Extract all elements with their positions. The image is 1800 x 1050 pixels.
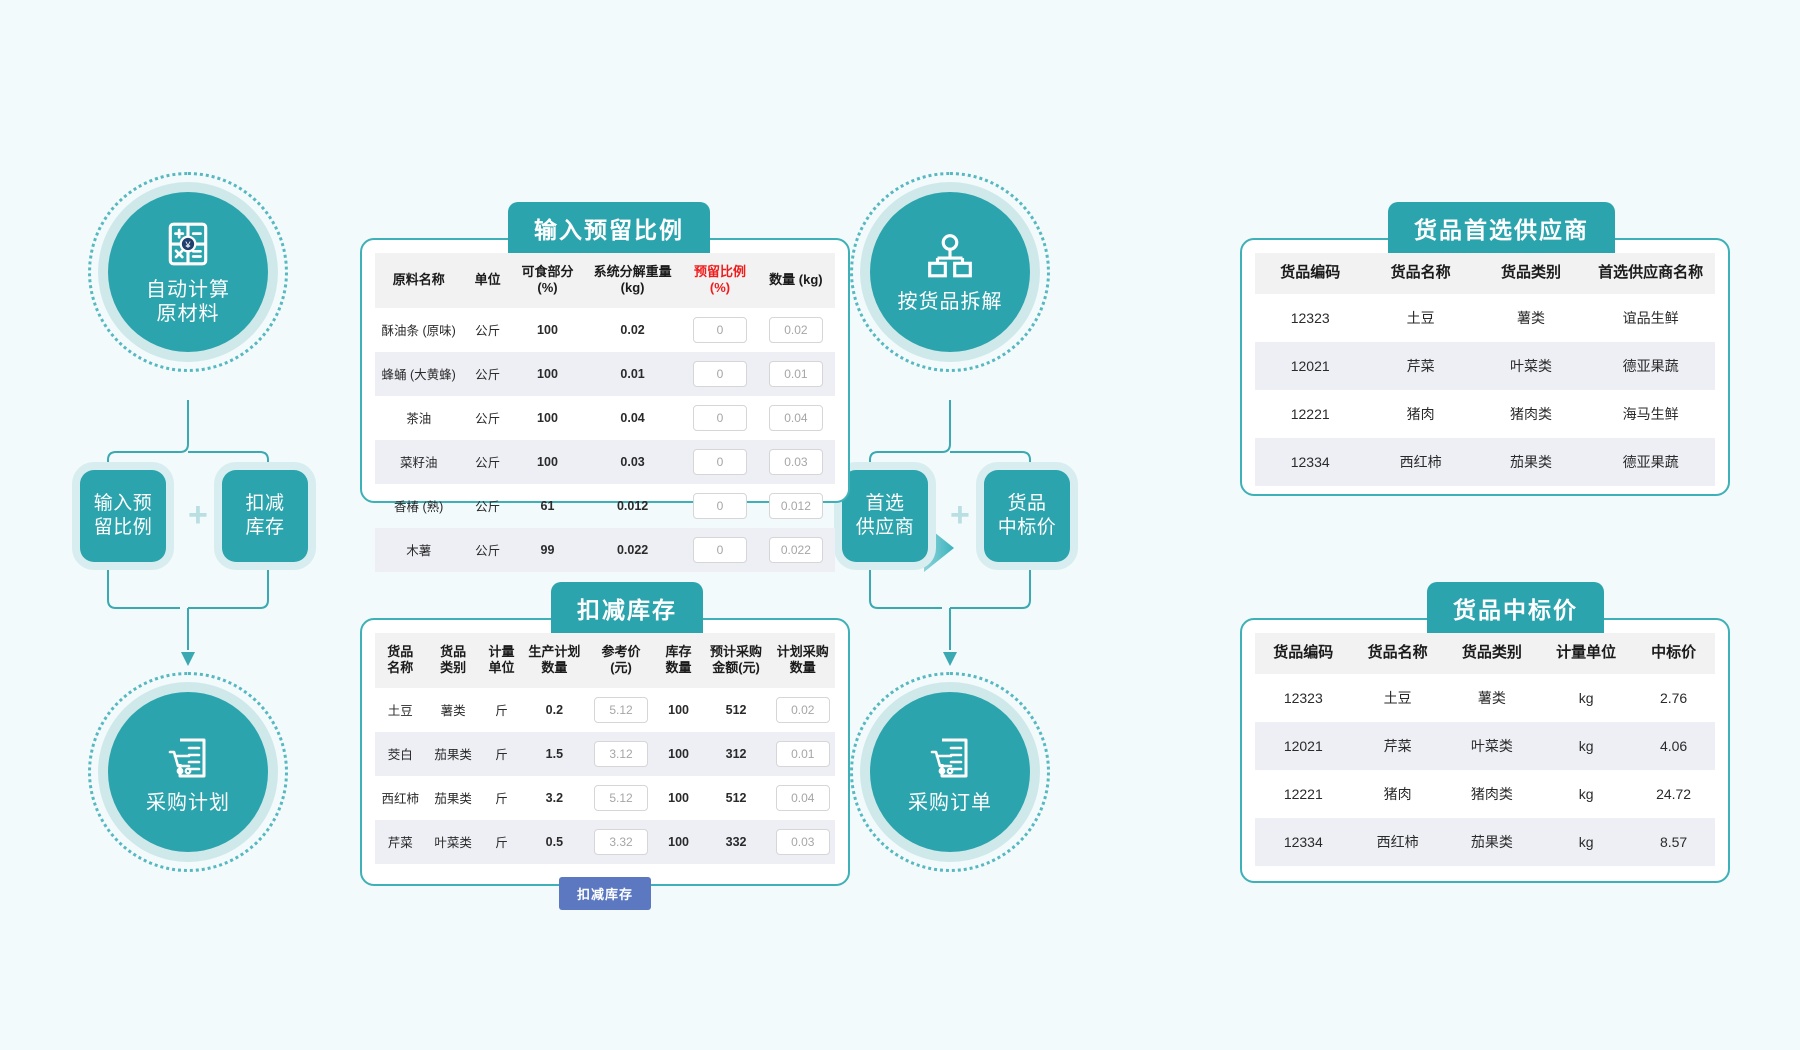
panel-reserve-ratio: 原料名称 单位 可食部分 (%) 系统分解重量 (kg) 预留比例 (%) 数量… [360,238,850,503]
cell-goods-category: 薯类 [1476,294,1586,342]
cell-goods-code: 12334 [1255,818,1352,866]
input-quantity[interactable]: 0.03 [769,449,823,475]
cell-unit: 公斤 [462,484,513,528]
table-row: 12334 西红柿 茄果类 kg 8.57 [1255,818,1715,866]
cell-plan-qty: 0.5 [522,820,586,864]
box-label-line2: 库存 [245,517,284,538]
col-header-material-name: 原料名称 [375,253,462,308]
cell-goods-category: 薯类 [1444,674,1541,722]
flow-box-deduct-stock[interactable]: 扣减 库存 [222,470,308,562]
cell-unit: 公斤 [462,308,513,352]
cell-goods-code: 12221 [1255,390,1365,438]
table-row: 西红柿 茄果类 斤 3.2 5.12 100 512 0.04 [375,776,835,820]
cell-weight: 0.012 [582,484,683,528]
table-row: 12323 土豆 薯类 kg 2.76 [1255,674,1715,722]
circle-core: 采购计划 [108,692,268,852]
col-header-ref-price: 参考价 (元) [587,633,656,688]
cell-material-name: 菜籽油 [375,440,462,484]
input-reserve-ratio[interactable]: 0 [693,493,747,519]
col-header-edible-part: 可食部分 (%) [513,253,582,308]
table-header-row: 货品 名称 货品 类别 计量 单位 生产计划 数量 参考价 (元) 库存 数量 … [375,633,835,688]
flow-box-input-reserve-ratio[interactable]: 输入预 留比例 [80,470,166,562]
cell-goods-category: 叶菜类 [1476,342,1586,390]
cell-unit: 公斤 [462,440,513,484]
node-auto-calc-materials[interactable]: ¥ 自动计算 原材料 [88,172,288,372]
table-row: 12334 西红柿 茄果类 德亚果蔬 [1255,438,1715,486]
cell-est-amount: 332 [702,820,771,864]
cell-goods-code: 12334 [1255,438,1365,486]
cell-edible: 100 [513,308,582,352]
cell-goods-category: 猪肉类 [1476,390,1586,438]
cell-unit: kg [1540,722,1632,770]
box-label-line1: 首选 [865,493,904,514]
table-row: 木薯 公斤 99 0.022 0 0.022 [375,528,835,572]
cell-winning-price: 4.06 [1632,722,1715,770]
cell-unit: kg [1540,818,1632,866]
flow-box-preferred-supplier[interactable]: 首选 供应商 [842,470,928,562]
cell-goods-category: 茄果类 [1476,438,1586,486]
cell-material-name: 蜂蛹 (大黄蜂) [375,352,462,396]
circle-core: ¥ 自动计算 原材料 [108,192,268,352]
cell-goods-code: 12221 [1255,770,1352,818]
table-row: 12021 芹菜 叶菜类 德亚果蔬 [1255,342,1715,390]
input-reserve-ratio[interactable]: 0 [693,361,747,387]
cell-supplier-name: 德亚果蔬 [1586,438,1715,486]
cell-plan-qty: 0.2 [522,688,586,732]
cell-material-name: 酥油条 (原味) [375,308,462,352]
svg-text:¥: ¥ [184,239,191,249]
cell-goods-category: 茄果类 [426,776,481,820]
col-header-purchase-qty: 计划采购 数量 [771,633,835,688]
box-label-line1: 输入预 [94,493,153,514]
table-header-row: 原料名称 单位 可食部分 (%) 系统分解重量 (kg) 预留比例 (%) 数量… [375,253,835,308]
col-header-goods-name: 货品 名称 [375,633,426,688]
col-header-supplier-name: 首选供应商名称 [1586,253,1715,294]
col-header-reserve-ratio: 预留比例 (%) [683,253,757,308]
cell-weight: 0.04 [582,396,683,440]
calculator-icon: ¥ [163,219,213,274]
table-row: 芹菜 叶菜类 斤 0.5 3.32 100 332 0.03 [375,820,835,864]
cell-material-name: 木薯 [375,528,462,572]
cell-edible: 100 [513,440,582,484]
cell-stock-qty: 100 [656,688,702,732]
col-header-goods-code: 货品编码 [1255,633,1352,674]
cell-supplier-name: 谊品生鲜 [1586,294,1715,342]
cell-stock-qty: 100 [656,776,702,820]
table-row: 12221 猪肉 猪肉类 kg 24.72 [1255,770,1715,818]
box-label-line2: 留比例 [94,517,153,538]
panel-title-winning-price: 货品中标价 [1427,582,1604,633]
cell-unit: 公斤 [462,352,513,396]
cell-unit: kg [1540,674,1632,722]
cell-goods-category: 茄果类 [426,732,481,776]
cell-unit: 斤 [481,776,522,820]
node-label: 采购订单 [908,791,992,815]
cell-est-amount: 512 [702,688,771,732]
input-ref-price[interactable]: 3.32 [594,829,648,855]
table-row: 酥油条 (原味) 公斤 100 0.02 0 0.02 [375,308,835,352]
cell-edible: 99 [513,528,582,572]
input-purchase-qty[interactable]: 0.03 [776,829,830,855]
table-header-row: 货品编码 货品名称 货品类别 首选供应商名称 [1255,253,1715,294]
cell-edible: 61 [513,484,582,528]
input-quantity[interactable]: 0.04 [769,405,823,431]
table-row: 香椿 (熟) 公斤 61 0.012 0 0.012 [375,484,835,528]
cell-goods-code: 12323 [1255,674,1352,722]
input-ref-price[interactable]: 5.12 [594,785,648,811]
cell-edible: 100 [513,352,582,396]
col-header-winning-price: 中标价 [1632,633,1715,674]
cell-est-amount: 312 [702,732,771,776]
panel-title-deduct-stock: 扣减库存 [551,582,703,633]
table-row: 12221 猪肉 猪肉类 海马生鲜 [1255,390,1715,438]
cell-goods-name: 芹菜 [1365,342,1475,390]
table-reserve-ratio: 原料名称 单位 可食部分 (%) 系统分解重量 (kg) 预留比例 (%) 数量… [375,253,835,572]
cell-goods-name: 芹菜 [1352,722,1444,770]
cell-unit: 斤 [481,732,522,776]
input-quantity[interactable]: 0.012 [769,493,823,519]
cell-est-amount: 512 [702,776,771,820]
input-ref-price[interactable]: 3.12 [594,741,648,767]
cell-goods-category: 茄果类 [1444,818,1541,866]
input-purchase-qty[interactable]: 0.02 [776,697,830,723]
input-quantity[interactable]: 0.01 [769,361,823,387]
cell-unit: 公斤 [462,528,513,572]
col-header-est-amount: 预计采购 金额(元) [702,633,771,688]
cell-winning-price: 8.57 [1632,818,1715,866]
cell-goods-category: 叶菜类 [1444,722,1541,770]
cell-goods-name: 土豆 [1352,674,1444,722]
purchase-cart-document-icon [924,730,976,787]
col-header-unit: 计量 单位 [481,633,522,688]
node-label: 采购计划 [146,791,230,815]
flow-diagram-canvas: ¥ 自动计算 原材料 输入预 留比例 + 扣减 库存 [0,0,1800,1050]
table-row: 茶油 公斤 100 0.04 0 0.04 [375,396,835,440]
table-row: 菜籽油 公斤 100 0.03 0 0.03 [375,440,835,484]
cell-goods-name: 猪肉 [1352,770,1444,818]
input-reserve-ratio[interactable]: 0 [693,317,747,343]
cell-weight: 0.01 [582,352,683,396]
col-header-unit: 计量单位 [1540,633,1632,674]
cell-stock-qty: 100 [656,732,702,776]
node-label-line2: 原材料 [157,303,220,325]
plus-operator-left: + [188,498,208,532]
cell-weight: 0.02 [582,308,683,352]
cell-weight: 0.022 [582,528,683,572]
cell-supplier-name: 德亚果蔬 [1586,342,1715,390]
table-preferred-supplier: 货品编码 货品名称 货品类别 首选供应商名称 12323 土豆 薯类 谊品生鲜 … [1255,253,1715,486]
cell-goods-category: 薯类 [426,688,481,732]
table-row: 蜂蛹 (大黄蜂) 公斤 100 0.01 0 0.01 [375,352,835,396]
box-label-line1: 货品 [1007,493,1046,514]
circle-core: 按货品拆解 [870,192,1030,352]
cell-goods-category: 叶菜类 [426,820,481,864]
node-purchase-plan[interactable]: 采购计划 [88,672,288,872]
cell-goods-name: 西红柿 [1365,438,1475,486]
input-reserve-ratio[interactable]: 0 [693,537,747,563]
panel-title-preferred-supplier: 货品首选供应商 [1388,202,1615,253]
col-header-goods-category: 货品类别 [1444,633,1541,674]
cell-goods-name: 芹菜 [375,820,426,864]
cell-unit: 斤 [481,688,522,732]
col-header-goods-category: 货品 类别 [426,633,481,688]
cell-winning-price: 2.76 [1632,674,1715,722]
input-purchase-qty[interactable]: 0.04 [776,785,830,811]
col-header-goods-category: 货品类别 [1476,253,1586,294]
cell-winning-price: 24.72 [1632,770,1715,818]
cell-material-name: 香椿 (熟) [375,484,462,528]
input-quantity[interactable]: 0.022 [769,537,823,563]
box-label-line1: 扣减 [245,493,284,514]
col-header-system-weight: 系统分解重量 (kg) [582,253,683,308]
panel-winning-price: 货品编码 货品名称 货品类别 计量单位 中标价 12323 土豆 薯类 kg 2… [1240,618,1730,883]
col-header-goods-name: 货品名称 [1365,253,1475,294]
table-row: 土豆 薯类 斤 0.2 5.12 100 512 0.02 [375,688,835,732]
box-label-line2: 供应商 [856,517,915,538]
cell-goods-code: 12021 [1255,342,1365,390]
input-purchase-qty[interactable]: 0.01 [776,741,830,767]
panel-title-reserve-ratio: 输入预留比例 [508,202,710,253]
cell-plan-qty: 3.2 [522,776,586,820]
cell-edible: 100 [513,396,582,440]
col-header-stock-qty: 库存 数量 [656,633,702,688]
cell-goods-code: 12021 [1255,722,1352,770]
box-label-line2: 中标价 [998,517,1057,538]
plus-operator-right: + [950,498,970,532]
col-header-plan-qty: 生产计划 数量 [522,633,586,688]
cell-unit: kg [1540,770,1632,818]
cell-unit: 公斤 [462,396,513,440]
table-row: 12021 芹菜 叶菜类 kg 4.06 [1255,722,1715,770]
cell-plan-qty: 1.5 [522,732,586,776]
cell-goods-code: 12323 [1255,294,1365,342]
col-header-goods-name: 货品名称 [1352,633,1444,674]
panel-deduct-stock: 货品 名称 货品 类别 计量 单位 生产计划 数量 参考价 (元) 库存 数量 … [360,618,850,886]
table-deduct-stock: 货品 名称 货品 类别 计量 单位 生产计划 数量 参考价 (元) 库存 数量 … [375,633,835,864]
node-label-line1: 自动计算 [146,279,230,301]
cell-goods-category: 猪肉类 [1444,770,1541,818]
input-reserve-ratio[interactable]: 0 [693,449,747,475]
table-row: 茭白 茄果类 斤 1.5 3.12 100 312 0.01 [375,732,835,776]
node-label: 按货品拆解 [898,290,1003,314]
cell-supplier-name: 海马生鲜 [1586,390,1715,438]
cell-goods-name: 茭白 [375,732,426,776]
circle-core: 采购订单 [870,692,1030,852]
node-purchase-order[interactable]: 采购订单 [850,672,1050,872]
cell-goods-name: 土豆 [375,688,426,732]
col-header-unit: 单位 [462,253,513,308]
cell-goods-name: 西红柿 [375,776,426,820]
deduct-stock-button[interactable]: 扣减库存 [559,877,651,910]
table-row: 12323 土豆 薯类 谊品生鲜 [1255,294,1715,342]
input-quantity[interactable]: 0.02 [769,317,823,343]
table-winning-price: 货品编码 货品名称 货品类别 计量单位 中标价 12323 土豆 薯类 kg 2… [1255,633,1715,866]
cell-weight: 0.03 [582,440,683,484]
hierarchy-icon [925,231,975,286]
col-header-goods-code: 货品编码 [1255,253,1365,294]
flow-box-winning-price[interactable]: 货品 中标价 [984,470,1070,562]
cell-unit: 斤 [481,820,522,864]
purchase-cart-document-icon [162,730,214,787]
cell-stock-qty: 100 [656,820,702,864]
input-reserve-ratio[interactable]: 0 [693,405,747,431]
cell-goods-name: 西红柿 [1352,818,1444,866]
input-ref-price[interactable]: 5.12 [594,697,648,723]
cell-goods-name: 猪肉 [1365,390,1475,438]
table-header-row: 货品编码 货品名称 货品类别 计量单位 中标价 [1255,633,1715,674]
node-split-by-goods[interactable]: 按货品拆解 [850,172,1050,372]
col-header-quantity: 数量 (kg) [757,253,835,308]
panel-preferred-supplier: 货品编码 货品名称 货品类别 首选供应商名称 12323 土豆 薯类 谊品生鲜 … [1240,238,1730,496]
cell-material-name: 茶油 [375,396,462,440]
cell-goods-name: 土豆 [1365,294,1475,342]
